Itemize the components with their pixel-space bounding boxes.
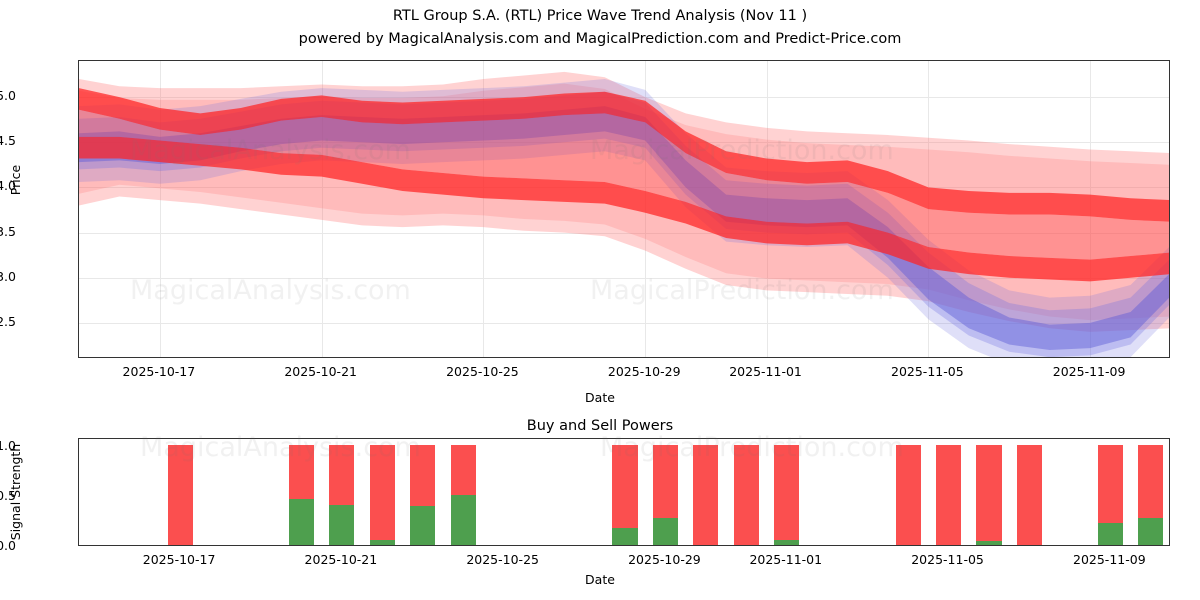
chart-page: RTL Group S.A. (RTL) Price Wave Trend An…	[0, 0, 1200, 600]
signal-bar	[451, 445, 476, 545]
buy-power-segment	[1098, 523, 1123, 545]
buy-power-segment	[289, 499, 314, 545]
signal-bar	[612, 445, 637, 545]
signal-y-tick: 0.0	[0, 538, 16, 553]
price-y-tick: 35.0	[0, 88, 16, 103]
price-x-tick: 2025-10-29	[594, 364, 694, 379]
signal-x-tick: 2025-11-09	[1059, 552, 1159, 567]
buy-power-segment	[612, 528, 637, 545]
buy-power-segment	[370, 540, 395, 545]
signal-bar	[936, 445, 961, 545]
buy-sell-powers-plot	[78, 438, 1170, 546]
price-bands	[79, 61, 1170, 358]
price-y-tick: 34.5	[0, 133, 16, 148]
price-y-tick: 32.5	[0, 314, 16, 329]
signal-bar	[410, 445, 435, 545]
signal-bar	[693, 445, 718, 545]
sell-power-segment	[896, 445, 921, 545]
price-x-tick: 2025-11-01	[716, 364, 816, 379]
price-x-tick: 2025-10-17	[109, 364, 209, 379]
signal-x-tick: 2025-10-17	[129, 552, 229, 567]
sell-power-segment	[168, 445, 193, 545]
price-y-tick: 33.0	[0, 269, 16, 284]
sell-power-segment	[976, 445, 1001, 545]
signal-x-tick: 2025-10-21	[291, 552, 391, 567]
sell-power-segment	[1017, 445, 1042, 545]
sell-power-segment	[370, 445, 395, 545]
signal-y-tick: 1.0	[0, 438, 16, 453]
price-wave-plot	[78, 60, 1170, 358]
signal-y-tick: 0.5	[0, 488, 16, 503]
signal-bar	[168, 445, 193, 545]
price-x-tick: 2025-10-21	[271, 364, 371, 379]
price-x-tick: 2025-11-09	[1039, 364, 1139, 379]
sell-power-segment	[936, 445, 961, 545]
sell-power-segment	[693, 445, 718, 545]
signal-x-tick: 2025-10-25	[453, 552, 553, 567]
signal-x-tick: 2025-11-05	[898, 552, 998, 567]
signal-bar	[734, 445, 759, 545]
buy-power-segment	[329, 505, 354, 545]
signal-chart-title: Buy and Sell Powers	[0, 418, 1200, 434]
signal-x-tick: 2025-11-01	[736, 552, 836, 567]
signal-bar	[329, 445, 354, 545]
price-x-tick: 2025-11-05	[877, 364, 977, 379]
buy-power-segment	[653, 518, 678, 545]
buy-power-segment	[451, 495, 476, 545]
page-title: RTL Group S.A. (RTL) Price Wave Trend An…	[0, 8, 1200, 24]
buy-power-segment	[410, 506, 435, 545]
price-x-axis-label: Date	[0, 390, 1200, 405]
price-y-tick: 34.0	[0, 178, 16, 193]
signal-x-tick: 2025-10-29	[614, 552, 714, 567]
signal-bar	[774, 445, 799, 545]
signal-bar	[976, 445, 1001, 545]
signal-bar	[370, 445, 395, 545]
signal-bar	[1138, 445, 1163, 545]
page-subtitle: powered by MagicalAnalysis.com and Magic…	[0, 31, 1200, 47]
signal-bar	[1098, 445, 1123, 545]
price-x-tick: 2025-10-25	[432, 364, 532, 379]
price-y-tick: 33.5	[0, 224, 16, 239]
signal-x-axis-label: Date	[0, 572, 1200, 587]
buy-power-segment	[1138, 518, 1163, 545]
signal-bar	[1017, 445, 1042, 545]
sell-power-segment	[734, 445, 759, 545]
buy-power-segment	[774, 540, 799, 545]
signal-bar	[653, 445, 678, 545]
buy-power-segment	[976, 541, 1001, 545]
signal-bar	[289, 445, 314, 545]
sell-power-segment	[774, 445, 799, 545]
signal-bar	[896, 445, 921, 545]
